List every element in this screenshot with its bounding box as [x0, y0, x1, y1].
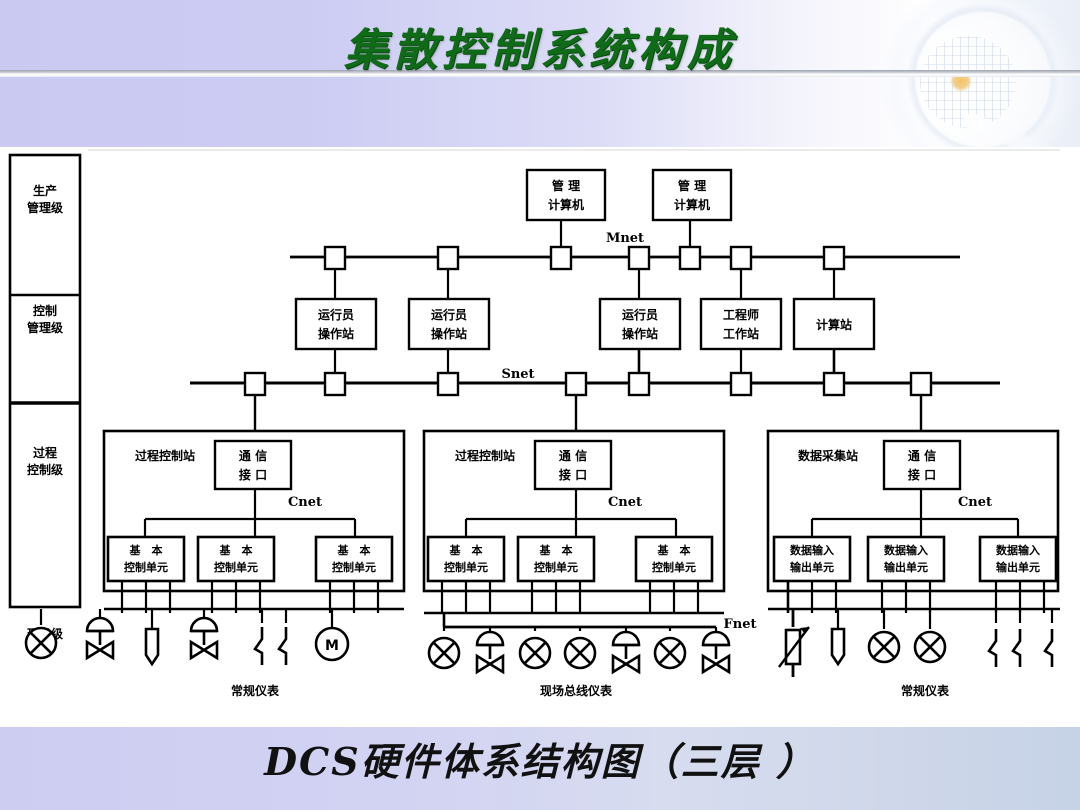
operator-station-1-line2: 操作站: [318, 326, 354, 341]
engineer-workstation-line1: 工程师: [723, 307, 759, 322]
caption-middle: 现场总线仪表: [540, 683, 613, 698]
fnet-label: Fnet: [724, 617, 757, 632]
cnet-label-2: Cnet: [608, 495, 642, 510]
compute-station: [794, 299, 874, 383]
control-valve-icon: [87, 618, 113, 658]
operator-station-2-line1: 运行员: [431, 307, 467, 322]
operator-station-3-line1: 运行员: [622, 307, 658, 322]
basic-control-unit-2c-line1: 基 本: [657, 543, 691, 557]
basic-control-unit-2a-line2: 控制单元: [444, 560, 488, 574]
basic-control-unit-1a-line2: 控制单元: [124, 560, 168, 574]
management-computer-2-line1: 管 理: [678, 178, 706, 193]
control-valve-icon: [613, 632, 639, 672]
snet-label: Snet: [501, 367, 534, 382]
operator-station-3-line2: 操作站: [622, 326, 658, 341]
data-io-unit-b-line2: 输出单元: [884, 560, 928, 574]
slide-title: 集散控制系统构成: [0, 14, 1080, 78]
break-line-icon: [279, 627, 286, 665]
field-devices-left: [26, 609, 348, 665]
basic-control-unit-2b-line2: 控制单元: [534, 560, 578, 574]
comm-interface-3-line1: 通 信: [908, 448, 936, 463]
cnet-label-3: Cnet: [958, 495, 992, 510]
data-io-unit-b-line1: 数据输入: [884, 543, 928, 557]
control-valve-icon: [191, 618, 217, 658]
dcs-architecture-diagram: 生产 管理级 控制 管理级 过程 控制级 现场级 管 理 计算机 管 理 计算机…: [0, 147, 1080, 727]
management-computer-1-line2: 计算机: [548, 197, 584, 212]
level-3-label-line2: 控制级: [27, 462, 63, 477]
caption-left: 常规仪表: [231, 683, 280, 698]
variable-resistor-icon: [779, 627, 809, 667]
data-io-unit-a-line1: 数据输入: [790, 543, 834, 557]
engineer-workstation-line2: 工作站: [723, 326, 759, 341]
process-control-station-1-name: 过程控制站: [135, 448, 195, 463]
data-io-unit-c-line2: 输出单元: [996, 560, 1040, 574]
basic-control-unit-2a-line1: 基 本: [449, 543, 483, 557]
control-valve-icon: [703, 632, 729, 672]
basic-control-unit-1c-line1: 基 本: [337, 543, 371, 557]
process-control-station-2-name: 过程控制站: [455, 448, 515, 463]
control-valve-icon: [477, 632, 503, 672]
level-1-label-line1: 生产: [33, 183, 57, 198]
level-column: [10, 155, 80, 607]
comm-interface-1-line1: 通 信: [239, 448, 267, 463]
break-line-icon: [1045, 629, 1052, 667]
transmitter-icon: [26, 628, 56, 658]
level-2-label-line2: 管理级: [27, 320, 63, 335]
slide-footer-title: DCS硬件体系结构图（三层 ）: [0, 731, 1080, 786]
management-computer-2-line2: 计算机: [674, 197, 710, 212]
thermowell-icon: [146, 629, 158, 664]
transmitter-icon: [565, 638, 595, 668]
operator-station-2-line2: 操作站: [431, 326, 467, 341]
management-computer-1-line1: 管 理: [552, 178, 580, 193]
break-line-icon: [989, 629, 996, 667]
basic-control-unit-2c-line2: 控制单元: [652, 560, 696, 574]
cnet-label-1: Cnet: [288, 495, 322, 510]
transmitter-icon: [520, 638, 550, 668]
caption-right: 常规仪表: [901, 683, 950, 698]
data-acquisition-station-name: 数据采集站: [798, 448, 858, 463]
transmitter-icon: [915, 632, 945, 662]
comm-interface-1-line2: 接 口: [239, 467, 267, 482]
comm-interface-2-line1: 通 信: [559, 448, 587, 463]
break-line-icon: [1013, 629, 1020, 667]
basic-control-unit-1a-line1: 基 本: [129, 543, 163, 557]
basic-control-unit-1b-line2: 控制单元: [214, 560, 258, 574]
basic-control-unit-1b-line1: 基 本: [219, 543, 253, 557]
mnet-label: Mnet: [606, 231, 644, 246]
data-io-unit-c-line1: 数据输入: [996, 543, 1040, 557]
operator-station-1-line1: 运行员: [318, 307, 354, 322]
comm-interface-3-line2: 接 口: [908, 467, 936, 482]
field-devices-middle: [429, 627, 729, 672]
mnet-bus: [290, 247, 960, 269]
data-io-unit-a-line2: 输出单元: [790, 560, 834, 574]
transmitter-icon: [429, 638, 459, 668]
compute-station-label: 计算站: [816, 317, 852, 332]
comm-interface-2-line2: 接 口: [559, 467, 587, 482]
motor-label: M: [325, 638, 339, 654]
level-2-label-line1: 控制: [33, 303, 57, 318]
thermowell-icon: [832, 629, 844, 664]
basic-control-unit-2b-line1: 基 本: [539, 543, 573, 557]
level-3-label-line1: 过程: [33, 445, 57, 460]
transmitter-icon: [655, 638, 685, 668]
transmitter-icon: [869, 632, 899, 662]
basic-control-unit-1c-line2: 控制单元: [332, 560, 376, 574]
break-line-icon: [255, 627, 262, 665]
field-devices-right: [779, 609, 1052, 677]
snet-bus: [190, 373, 1000, 395]
level-1-label-line2: 管理级: [27, 200, 63, 215]
